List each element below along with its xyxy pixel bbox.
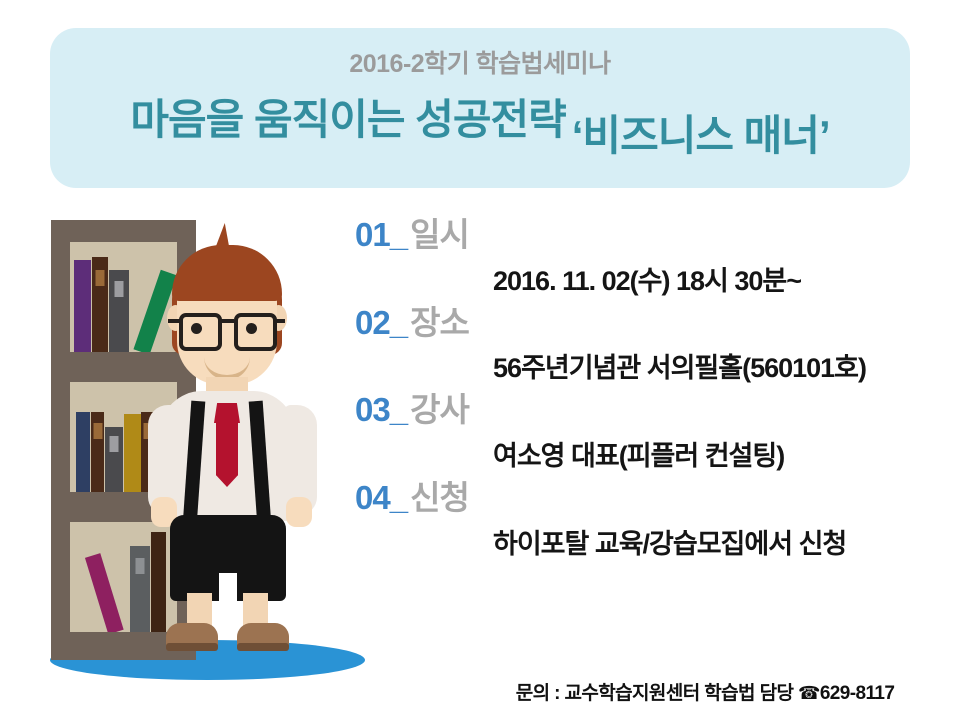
header-title: 마음을 움직이는 성공전략‘비즈니스 매너’ bbox=[50, 86, 910, 147]
header-banner: 2016-2학기 학습법세미나 마음을 움직이는 성공전략‘비즈니스 매너’ bbox=[50, 28, 910, 188]
info-item-01: 01_일시 2016. 11. 02(수) 18시 30분~ bbox=[355, 218, 955, 298]
info-number-04: 04 bbox=[355, 479, 390, 516]
book-label bbox=[96, 270, 105, 286]
header-title-quoted: ‘비즈니스 매너’ bbox=[572, 102, 830, 163]
book-label bbox=[115, 281, 124, 297]
eye-left bbox=[191, 323, 202, 334]
info-separator-03: _ bbox=[390, 391, 408, 428]
eye-right bbox=[246, 323, 257, 334]
info-detail-01: 2016. 11. 02(수) 18시 30분~ bbox=[493, 259, 955, 298]
info-separator-01: _ bbox=[390, 216, 408, 253]
book bbox=[109, 270, 129, 352]
hand-right bbox=[286, 497, 312, 527]
hair-fringe bbox=[172, 245, 282, 301]
book bbox=[76, 412, 90, 492]
info-list: 01_일시 2016. 11. 02(수) 18시 30분~ 02_장소 56주… bbox=[355, 218, 955, 569]
book bbox=[92, 257, 108, 352]
character-illustration bbox=[140, 215, 340, 665]
info-detail-03: 여소영 대표(피플러 컨설팅) bbox=[493, 434, 955, 473]
info-label-02: 장소 bbox=[410, 304, 469, 341]
info-detail-04: 하이포탈 교육/강습모집에서 신청 bbox=[493, 522, 955, 561]
info-heading-01: 01_일시 bbox=[355, 218, 955, 253]
footer-contact: 문의 : 교수학습지원센터 학습법 담당 ☎629-8117 bbox=[470, 678, 940, 705]
contact-label: 문의 : 교수학습지원센터 학습법 담당 bbox=[516, 683, 798, 704]
book-label bbox=[110, 436, 119, 452]
seminar-poster: 2016-2학기 학습법세미나 마음을 움직이는 성공전략‘비즈니스 매너’ bbox=[0, 0, 960, 720]
shorts-gap bbox=[219, 573, 237, 603]
info-heading-03: 03_강사 bbox=[355, 393, 955, 428]
info-label-03: 강사 bbox=[410, 391, 469, 428]
info-heading-04: 04_신청 bbox=[355, 481, 955, 516]
contact-phone: 629-8117 bbox=[820, 683, 894, 704]
info-item-03: 03_강사 여소영 대표(피플러 컨설팅) bbox=[355, 393, 955, 473]
info-number-01: 01 bbox=[355, 216, 390, 253]
book bbox=[124, 414, 141, 492]
phone-icon: ☎ bbox=[798, 683, 820, 703]
tie-knot bbox=[214, 403, 240, 423]
book-label bbox=[93, 423, 102, 439]
shoe-sole-right bbox=[237, 643, 289, 651]
info-separator-02: _ bbox=[390, 304, 408, 341]
book bbox=[74, 260, 91, 352]
header-subtitle: 2016-2학기 학습법세미나 bbox=[50, 44, 910, 80]
info-label-01: 일시 bbox=[410, 216, 469, 253]
info-number-03: 03 bbox=[355, 391, 390, 428]
book bbox=[91, 412, 104, 492]
info-separator-04: _ bbox=[390, 479, 408, 516]
tie-body bbox=[216, 421, 238, 487]
info-detail-02: 56주년기념관 서의필홀(560101호) bbox=[493, 346, 955, 385]
info-number-02: 02 bbox=[355, 304, 390, 341]
glasses-bridge bbox=[218, 319, 234, 323]
info-heading-02: 02_장소 bbox=[355, 306, 955, 341]
shoe-sole-left bbox=[166, 643, 218, 651]
book bbox=[105, 427, 123, 492]
info-item-02: 02_장소 56주년기념관 서의필홀(560101호) bbox=[355, 306, 955, 386]
book bbox=[85, 553, 124, 632]
header-title-main: 마음을 움직이는 성공전략 bbox=[130, 96, 565, 143]
illustration bbox=[20, 215, 380, 675]
info-label-04: 신청 bbox=[410, 479, 469, 516]
info-item-04: 04_신청 하이포탈 교육/강습모집에서 신청 bbox=[355, 481, 955, 561]
